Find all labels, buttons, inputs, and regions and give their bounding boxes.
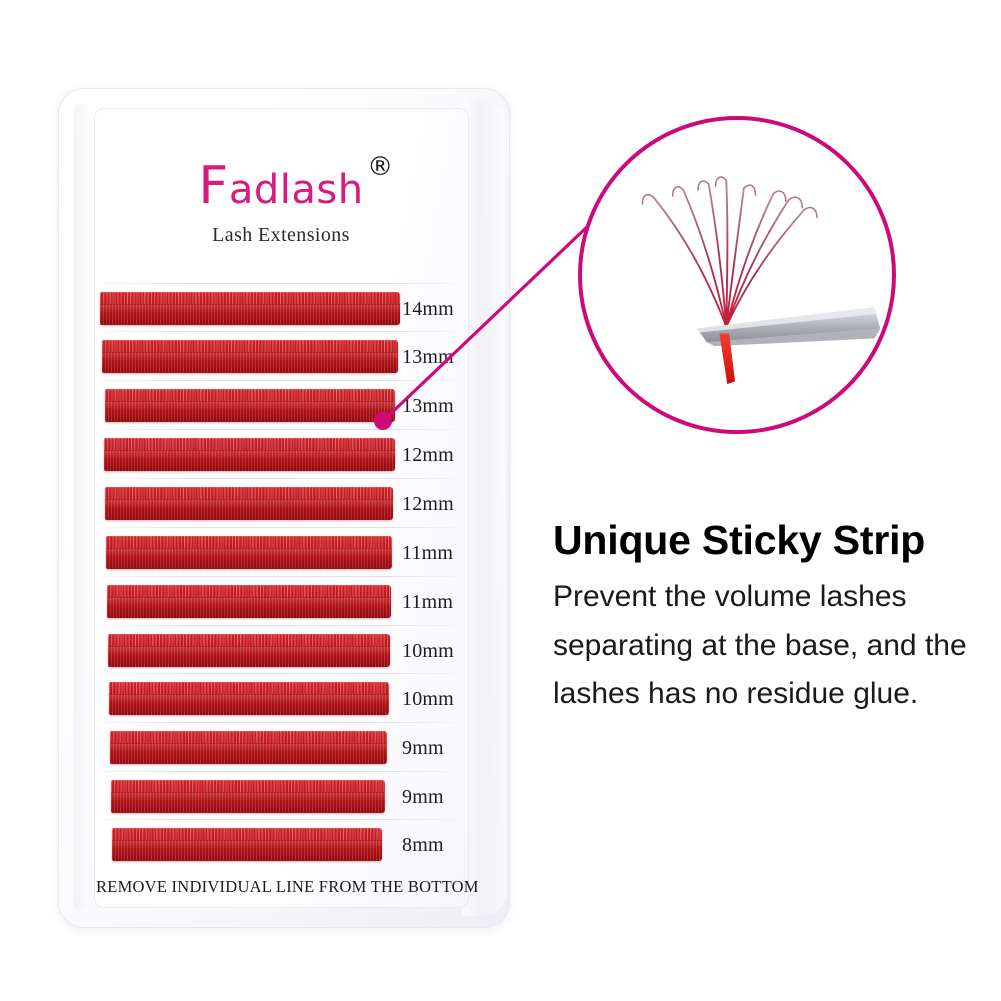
lash-strip (111, 780, 385, 813)
lash-strip (110, 731, 387, 764)
copy-line-3: lashes has no residue glue. (553, 670, 973, 719)
lash-size-label: 10mm (402, 640, 454, 663)
row-divider (100, 478, 460, 479)
lash-strip (112, 828, 382, 861)
lash-strip (106, 536, 392, 569)
lash-size-label: 9mm (402, 786, 444, 809)
row-divider (100, 819, 460, 820)
product-image-canvas: Fadlash ® Lash Extensions 14mm13mm13mm12… (0, 0, 1001, 1001)
lash-strip (105, 389, 395, 422)
row-divider (100, 673, 460, 674)
lash-size-label: 11mm (402, 591, 453, 614)
lash-strip (108, 634, 390, 667)
row-divider (100, 722, 460, 723)
marketing-copy: Unique Sticky Strip Prevent the volume l… (553, 518, 973, 719)
lash-strip (100, 292, 400, 325)
row-divider (100, 771, 460, 772)
lash-size-label: 9mm (402, 737, 444, 760)
lash-size-label: 8mm (402, 834, 444, 857)
brand-logo-initial: F (198, 156, 228, 216)
lash-strip (107, 585, 391, 618)
lash-strip (102, 340, 398, 373)
lash-strip (109, 682, 389, 715)
lash-strip (105, 487, 393, 520)
brand-logo: Fadlash ® (198, 160, 363, 212)
callout-connector (370, 200, 610, 440)
lash-fan-illustration (582, 120, 892, 430)
tray-footnote: REMOVE INDIVIDUAL LINE FROM THE BOTTOM (96, 877, 468, 897)
tray-hinge-highlight (74, 104, 91, 910)
lash-size-label: 12mm (402, 444, 454, 467)
lash-size-label: 12mm (402, 493, 454, 516)
copy-line-2: separating at the base, and the (553, 622, 973, 671)
row-divider (100, 625, 460, 626)
registered-trademark-icon: ® (367, 154, 394, 180)
magnifier-callout (578, 116, 896, 434)
lash-size-label: 10mm (402, 688, 454, 711)
lash-size-label: 11mm (402, 542, 453, 565)
brand-logo-rest: adlash (229, 167, 364, 213)
row-divider (100, 576, 460, 577)
copy-heading: Unique Sticky Strip (553, 518, 973, 564)
lash-strip (104, 438, 395, 471)
magnifier-ring (578, 116, 896, 434)
copy-line-1: Prevent the volume lashes (553, 573, 973, 622)
row-divider (100, 527, 460, 528)
